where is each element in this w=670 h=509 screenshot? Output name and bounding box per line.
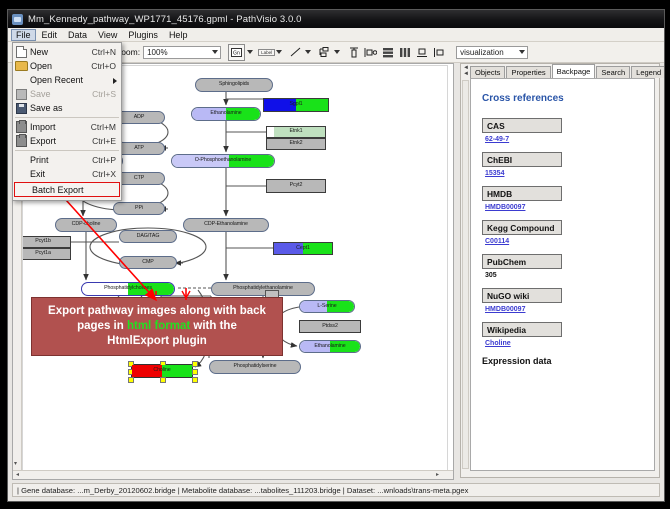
callout-line2-pre: pages in — [77, 320, 127, 332]
visualization-value: visualization — [460, 48, 504, 57]
node-o-phosphoethanolamine[interactable]: O-Phosphoethanolamine — [171, 154, 275, 168]
dock-tab-strip: Objects Properties Backpage Search Legen… — [461, 64, 661, 78]
node-cept1[interactable]: Cept1 — [273, 242, 333, 255]
side-dock: ◄◄ Objects Properties Backpage Search Le… — [460, 63, 660, 478]
tab-objects[interactable]: Objects — [470, 66, 505, 78]
menu-item-save-accel: Ctrl+S — [92, 89, 121, 99]
canvas-bottom-gutter[interactable]: ◂ ▸ — [13, 470, 453, 479]
node-pcyt1b[interactable]: Pcyt1b — [22, 236, 71, 248]
menu-item-save-label: Save — [30, 89, 92, 99]
node-sphingolipids[interactable]: Sphingolipids — [195, 78, 273, 92]
menu-item-import-label: Import — [30, 122, 91, 132]
new-document-icon — [13, 45, 30, 59]
callout-highlight: html format — [127, 320, 190, 332]
xref-header-pubchem: PubChem — [482, 254, 562, 269]
import-icon — [13, 120, 30, 134]
callout-text: Export pathway images along with back pa… — [42, 304, 272, 349]
menu-plugins[interactable]: Plugins — [123, 29, 163, 41]
xref-value-kegg[interactable]: C00114 — [485, 238, 643, 245]
tab-legend[interactable]: Legend — [631, 66, 665, 78]
menu-item-open-recent[interactable]: Open Recent — [13, 73, 121, 87]
node-l-serine[interactable]: L-Serine — [299, 300, 355, 313]
tab-search[interactable]: Search — [596, 66, 630, 78]
tab-properties[interactable]: Properties — [506, 66, 550, 78]
node-phosphatidylserine[interactable]: Phosphatidylserine — [209, 360, 301, 374]
menu-item-open-recent-label: Open Recent — [30, 75, 121, 85]
line-dropdown-icon[interactable] — [305, 50, 311, 54]
menu-file[interactable]: File — [11, 29, 36, 41]
datanode-icon[interactable]: Gn — [228, 44, 245, 61]
blank-icon — [13, 153, 30, 167]
menu-item-save: Save Ctrl+S — [13, 87, 121, 101]
menu-item-print-label: Print — [30, 155, 92, 165]
dock-scroll-gutter[interactable] — [462, 80, 469, 469]
menu-item-new[interactable]: New Ctrl+N — [13, 45, 121, 59]
title-bar: Mm_Kennedy_pathway_WP1771_45176.gpml - P… — [8, 10, 664, 28]
scroll-down-icon[interactable]: ▾ — [14, 460, 17, 467]
node-cdp-choline[interactable]: CDP-choline — [55, 218, 117, 232]
application-window: Mm_Kennedy_pathway_WP1771_45176.gpml - P… — [7, 9, 665, 502]
xref-header-nugo: NuGO wiki — [482, 288, 562, 303]
save-as-icon — [13, 101, 30, 115]
menu-data[interactable]: Data — [63, 29, 92, 41]
menu-item-export-label: Export — [30, 136, 92, 146]
align-top-icon[interactable] — [346, 45, 361, 60]
resize-handle-ne[interactable] — [192, 361, 198, 367]
xref-value-nugo[interactable]: HMDB00097 — [485, 306, 643, 313]
screenshot-root: Mm_Kennedy_pathway_WP1771_45176.gpml - P… — [0, 0, 670, 509]
node-pcyt1a[interactable]: Pcyt1a — [22, 248, 71, 260]
menu-item-export[interactable]: Export Ctrl+E — [13, 134, 121, 148]
export-icon — [13, 134, 30, 148]
node-dag-tag[interactable]: DAG/TAG — [119, 230, 177, 243]
xref-header-hmdb: HMDB — [482, 186, 562, 201]
common-width-icon[interactable] — [431, 45, 446, 60]
xref-header-kegg: Kegg Compound — [482, 220, 562, 235]
submenu-arrow-icon — [113, 78, 117, 84]
node-phosphatidylcholines[interactable]: Phosphatidylcholines — [81, 282, 175, 296]
node-cmp[interactable]: CMP — [119, 256, 177, 269]
interaction-dropdown-icon[interactable] — [334, 50, 340, 54]
menu-item-save-as-label: Save as — [30, 103, 116, 113]
zoom-value: 100% — [147, 48, 167, 57]
blank-icon — [13, 73, 30, 87]
backpage-title: Cross references — [482, 93, 643, 104]
align-left-icon[interactable] — [363, 45, 378, 60]
tab-backpage[interactable]: Backpage — [552, 64, 596, 78]
menu-item-batch-export-label: Batch Export — [32, 185, 119, 195]
node-phosphatidylethanolamine[interactable]: Phosphatidylethanolamine — [211, 282, 315, 296]
menu-item-new-accel: Ctrl+N — [92, 47, 121, 57]
file-menu-popup[interactable]: New Ctrl+N Open Ctrl+O Open Recent Save … — [12, 42, 122, 201]
node-cdp-ethanolamine[interactable]: CDP-Ethanolamine — [183, 218, 269, 232]
node-sgpl1[interactable]: Sgpl1 — [263, 98, 329, 112]
menu-item-exit[interactable]: Exit Ctrl+X — [13, 167, 121, 181]
resize-handle-se[interactable] — [192, 377, 198, 383]
datanode-dropdown-icon[interactable] — [247, 50, 253, 54]
callout-line2-post: with the — [190, 320, 237, 332]
status-text: | Gene database: ...m_Derby_20120602.bri… — [17, 486, 468, 495]
label-button-text: Label — [258, 49, 275, 56]
status-bar: | Gene database: ...m_Derby_20120602.bri… — [12, 483, 660, 497]
menu-separator — [15, 150, 119, 151]
svg-text:Gn: Gn — [233, 50, 240, 56]
label-dropdown-icon[interactable] — [276, 50, 282, 54]
scroll-right-icon[interactable]: ▸ — [436, 471, 439, 478]
xref-header-cas: CAS — [482, 118, 562, 133]
menu-item-import[interactable]: Import Ctrl+M — [13, 120, 121, 134]
menu-bar: File Edit Data View Plugins Help — [8, 28, 664, 42]
node-ethanolamine-top[interactable]: Ethanolamine — [191, 107, 261, 121]
window-title: Mm_Kennedy_pathway_WP1771_45176.gpml - P… — [28, 14, 302, 25]
xref-header-chebi: ChEBI — [482, 152, 562, 167]
menu-item-new-label: New — [30, 47, 92, 57]
zoom-combobox[interactable]: 100% — [143, 46, 221, 59]
xref-value-chebi[interactable]: 15354 — [485, 170, 643, 177]
align-bottom-icon[interactable] — [414, 45, 429, 60]
node-choline-bottom-selected[interactable]: Choline — [131, 364, 193, 378]
interaction-icon[interactable] — [317, 45, 332, 60]
resize-handle-e[interactable] — [192, 369, 198, 375]
save-disabled-icon — [13, 87, 30, 101]
node-etnk1[interactable]: Etnk1 — [266, 126, 326, 138]
chevron-down-icon — [212, 50, 218, 54]
chevron-down-icon — [519, 50, 525, 54]
pathvisio-icon — [12, 14, 23, 25]
stack-vertical-icon[interactable] — [380, 45, 395, 60]
node-ptdss2[interactable]: Ptdss2 — [299, 320, 361, 333]
resize-handle-s[interactable] — [160, 377, 166, 383]
scroll-left-icon[interactable]: ◂ — [16, 471, 19, 478]
visualization-combobox[interactable]: visualization — [456, 46, 528, 59]
menu-item-exit-label: Exit — [30, 169, 92, 179]
menu-item-open-accel: Ctrl+O — [91, 61, 121, 71]
node-etnk2[interactable]: Etnk2 — [266, 138, 326, 150]
menu-item-export-accel: Ctrl+E — [92, 136, 121, 146]
menu-help[interactable]: Help — [164, 29, 193, 41]
annotation-callout: Export pathway images along with back pa… — [31, 297, 283, 356]
blank-icon — [15, 183, 32, 197]
menu-item-print[interactable]: Print Ctrl+P — [13, 153, 121, 167]
open-folder-icon — [13, 59, 30, 73]
label-icon[interactable]: Label — [259, 45, 274, 60]
node-pcyt2[interactable]: Pcyt2 — [266, 179, 326, 193]
menu-edit[interactable]: Edit — [37, 29, 63, 41]
expression-data-heading: Expression data — [482, 356, 643, 366]
menu-separator — [15, 117, 119, 118]
node-ethanolamine-bottom[interactable]: Ethanolamine — [299, 340, 361, 353]
node-ppi[interactable]: PPi — [113, 202, 165, 215]
menu-item-exit-accel: Ctrl+X — [92, 169, 121, 179]
callout-line3: HtmlExport plugin — [107, 335, 207, 347]
menu-item-open-label: Open — [30, 61, 91, 71]
node-choline-bottom[interactable]: Choline — [131, 364, 193, 378]
xref-header-wikipedia: Wikipedia — [482, 322, 562, 337]
distribute-horizontal-icon[interactable] — [397, 45, 412, 60]
menu-item-batch-export[interactable]: Batch Export — [14, 182, 120, 197]
menu-item-print-accel: Ctrl+P — [92, 155, 121, 165]
xref-value-hmdb[interactable]: HMDB00097 — [485, 204, 643, 211]
xref-value-wikipedia[interactable]: Choline — [485, 340, 643, 347]
blank-icon — [13, 167, 30, 181]
menu-item-save-as[interactable]: Save as — [13, 101, 121, 115]
menu-view[interactable]: View — [93, 29, 122, 41]
xref-value-pubchem: 305 — [485, 272, 643, 279]
menu-item-import-accel: Ctrl+M — [91, 122, 121, 132]
callout-line1: Export pathway images along with back — [48, 305, 266, 317]
resize-handle-sw[interactable] — [128, 377, 134, 383]
xref-value-cas[interactable]: 62-49-7 — [485, 136, 643, 143]
menu-item-open[interactable]: Open Ctrl+O — [13, 59, 121, 73]
backpage-panel[interactable]: Cross references CAS 62-49-7 ChEBI 15354… — [470, 78, 655, 471]
line-icon[interactable] — [288, 45, 303, 60]
